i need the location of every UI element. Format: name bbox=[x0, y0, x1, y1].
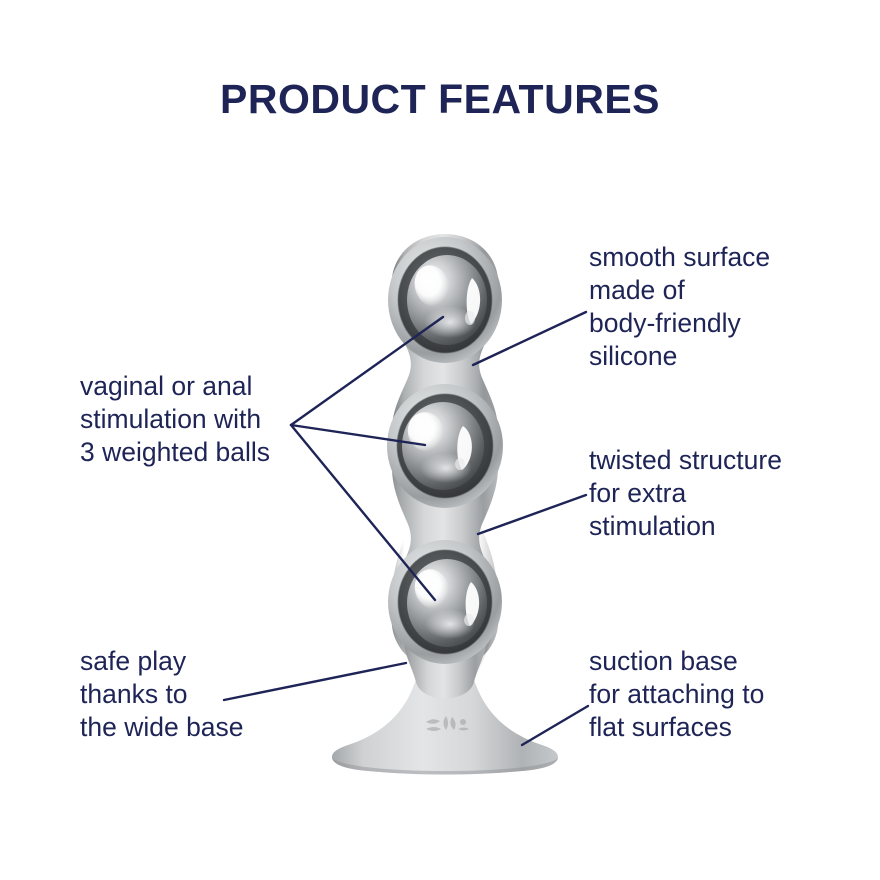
callout-line: stimulation with bbox=[80, 403, 270, 436]
callout-line: silicone bbox=[589, 340, 770, 373]
callout-smooth-surface: smooth surface made of body-friendly sil… bbox=[589, 241, 770, 373]
callout-line: smooth surface bbox=[589, 241, 770, 274]
product-illustration bbox=[300, 230, 590, 775]
callout-twisted-structure: twisted structure for extra stimulation bbox=[589, 444, 782, 543]
callout-weighted-balls: vaginal or anal stimulation with 3 weigh… bbox=[80, 370, 270, 469]
callout-line: suction base bbox=[589, 645, 764, 678]
callout-line: for extra bbox=[589, 477, 782, 510]
callout-line: safe play bbox=[80, 645, 244, 678]
weighted-ball-middle bbox=[387, 384, 503, 508]
page-title: PRODUCT FEATURES bbox=[0, 76, 880, 123]
callout-safe-play: safe play thanks to the wide base bbox=[80, 645, 244, 744]
weighted-ball-top bbox=[388, 237, 502, 363]
callout-line: body-friendly bbox=[589, 307, 770, 340]
callout-line: made of bbox=[589, 274, 770, 307]
callout-line: vaginal or anal bbox=[80, 370, 270, 403]
callout-line: 3 weighted balls bbox=[80, 436, 270, 469]
callout-suction-base: suction base for attaching to flat surfa… bbox=[589, 645, 764, 744]
callout-line: flat surfaces bbox=[589, 711, 764, 744]
weighted-ball-bottom bbox=[388, 540, 502, 664]
callout-line: for attaching to bbox=[589, 678, 764, 711]
callout-line: twisted structure bbox=[589, 444, 782, 477]
callout-line: thanks to bbox=[80, 678, 244, 711]
product-features-infographic: PRODUCT FEATURES bbox=[0, 0, 880, 880]
callout-line: the wide base bbox=[80, 711, 244, 744]
callout-line: stimulation bbox=[589, 510, 782, 543]
